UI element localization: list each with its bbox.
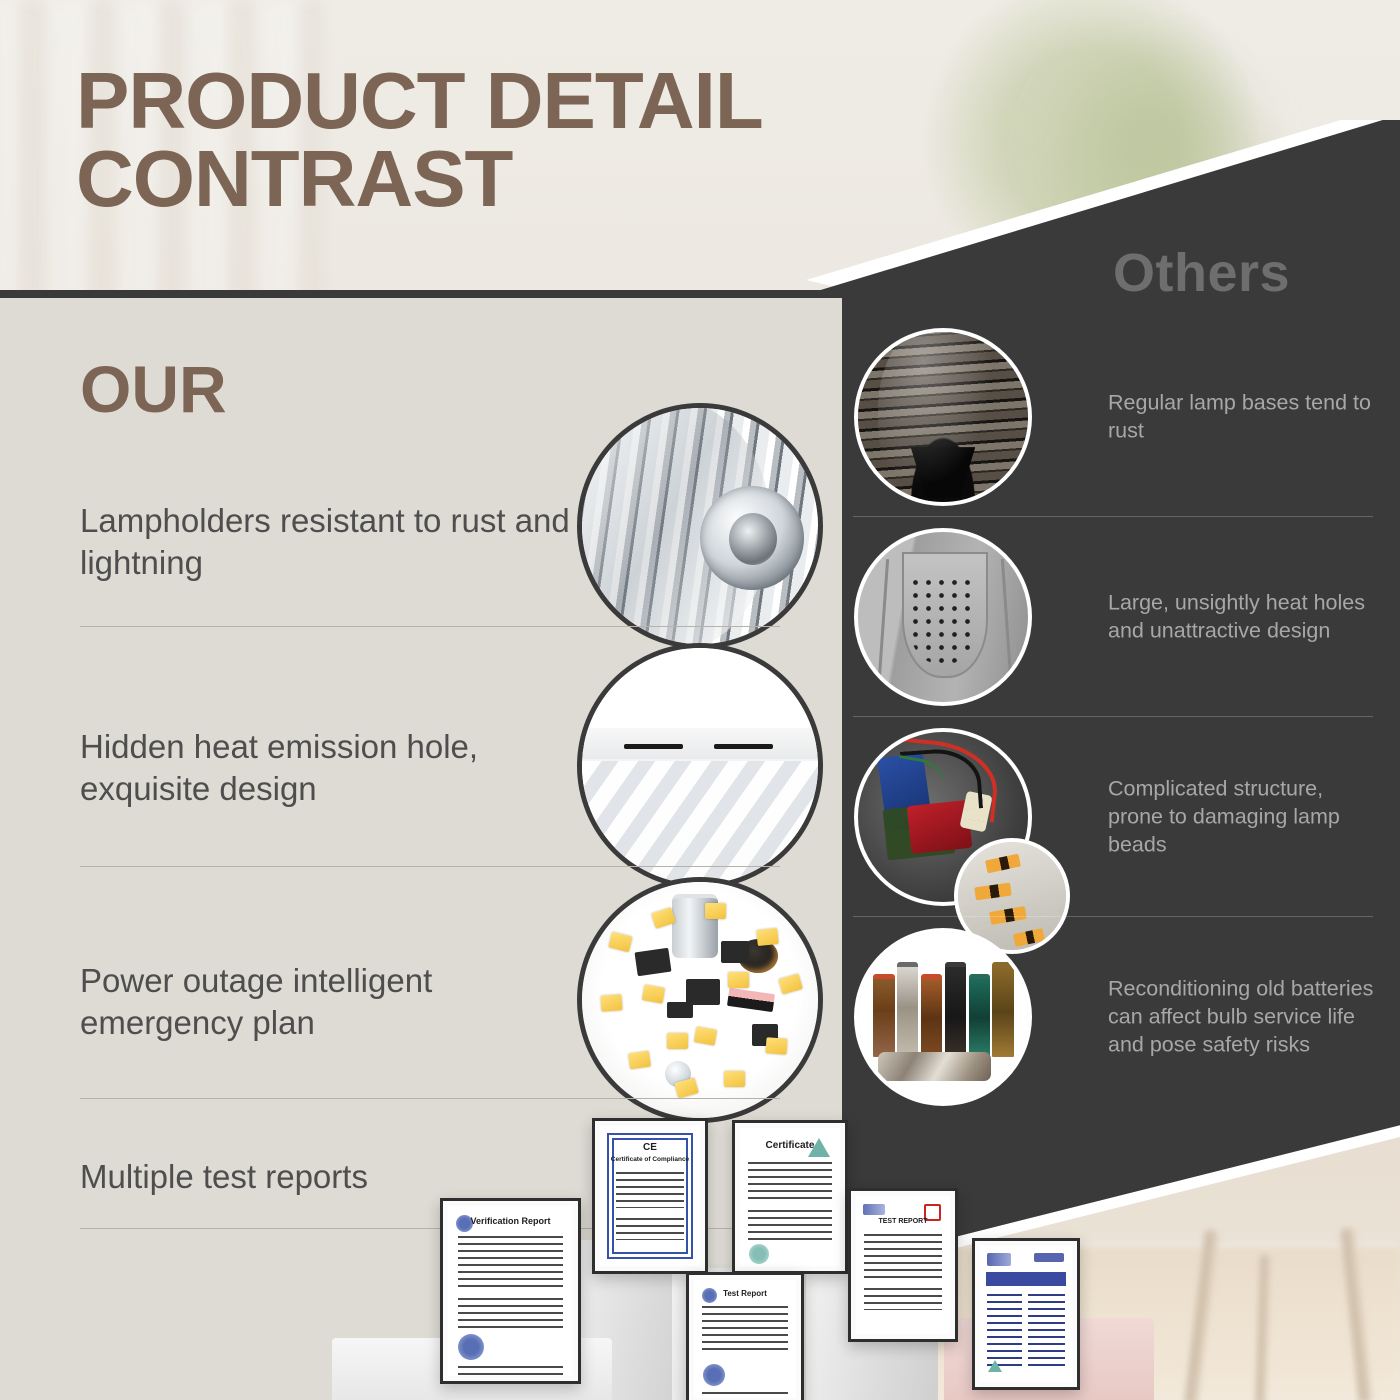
divider xyxy=(80,626,780,627)
others-item-label: Regular lamp bases tend to rust xyxy=(1108,388,1376,445)
certificate-of-compliance: CE Certificate of Compliance xyxy=(592,1118,708,1274)
hidden-heat-slot-photo xyxy=(582,648,818,884)
our-item-label: Hidden heat emission hole, exquisite des… xyxy=(80,726,570,810)
title-line-1: PRODUCT DETAIL xyxy=(76,56,763,145)
others-item-label: Large, unsightly heat holes and unattrac… xyxy=(1108,588,1376,645)
our-heading: OUR xyxy=(80,351,227,427)
others-item-old-batteries: Reconditioning old batteries can affect … xyxy=(848,920,1378,1113)
others-item-label: Complicated structure, prone to damaging… xyxy=(1108,774,1376,859)
divider xyxy=(80,866,780,867)
corroded-batteries-photo xyxy=(858,932,1028,1102)
our-panel: OUR Lampholders resistant to rust and li… xyxy=(0,290,850,1400)
our-item-label: Lampholders resistant to rust and lightn… xyxy=(80,500,570,584)
certificate-plain: Certificate xyxy=(732,1120,848,1274)
our-item-label: Power outage intelligent emergency plan xyxy=(80,960,570,1044)
divider xyxy=(853,916,1373,917)
rusty-lamp-base-photo xyxy=(858,332,1028,502)
certificate-title: Certificate of Compliance xyxy=(600,1156,700,1163)
others-heading: Others xyxy=(1113,242,1290,304)
certificate-verification-report: Verification Report xyxy=(440,1198,581,1384)
vent-holes-photo xyxy=(858,532,1028,702)
others-item-complicated-structure: Complicated structure, prone to damaging… xyxy=(848,720,1378,913)
certificate-title: TEST REPORT xyxy=(856,1218,950,1225)
others-item-vent-holes: Large, unsightly heat holes and unattrac… xyxy=(848,520,1378,713)
certificate-title: Verification Report xyxy=(448,1216,573,1226)
certificate-test-report: Test Report xyxy=(686,1272,804,1400)
divider xyxy=(80,1098,780,1099)
others-item-label: Reconditioning old batteries can affect … xyxy=(1108,974,1376,1059)
divider xyxy=(853,516,1373,517)
divider xyxy=(853,716,1373,717)
our-panel-fill: OUR Lampholders resistant to rust and li… xyxy=(0,298,842,1400)
ce-mark: CE xyxy=(600,1142,700,1153)
certificate-test-report-red: TEST REPORT xyxy=(848,1188,958,1342)
certificate-title: Test Report xyxy=(694,1289,796,1298)
certificate-blue-header xyxy=(972,1238,1080,1390)
led-pcb-photo xyxy=(582,882,818,1118)
chrome-lamp-base-photo xyxy=(582,408,818,644)
others-item-rusty-base: Regular lamp bases tend to rust xyxy=(848,320,1378,513)
infographic-canvas: PRODUCT DETAIL CONTRAST Others Regular l… xyxy=(0,0,1400,1400)
